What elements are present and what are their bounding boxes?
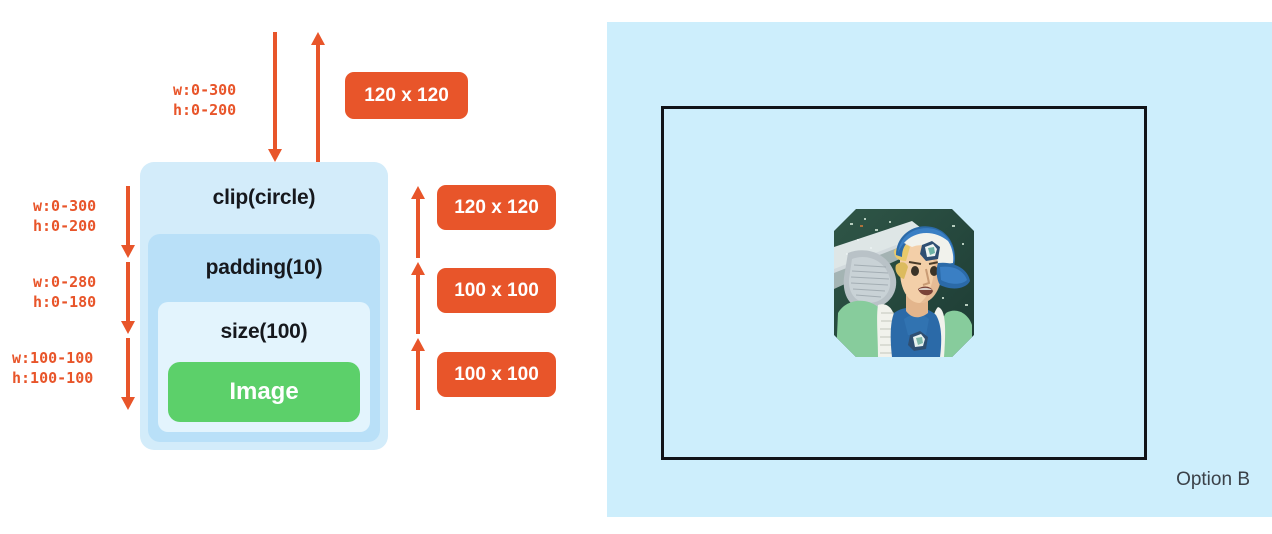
arrow-head bbox=[121, 245, 135, 258]
left-constraint-1-width: w:0-300 bbox=[33, 197, 96, 215]
arrow-head bbox=[311, 32, 325, 45]
option-caption: Option B bbox=[1176, 469, 1250, 491]
clipped-avatar-image bbox=[834, 209, 974, 357]
arrow-shaft bbox=[416, 197, 420, 258]
arrow-head bbox=[121, 397, 135, 410]
left-constraint-3-height: h:100-100 bbox=[12, 369, 93, 387]
arrow-shaft bbox=[273, 32, 277, 151]
right-size-arrow-3 bbox=[411, 338, 425, 410]
option-b-panel: Option B bbox=[607, 22, 1272, 517]
avatar-artwork-icon bbox=[834, 209, 974, 357]
left-constraint-arrow-1 bbox=[121, 186, 135, 258]
arrow-shaft bbox=[416, 349, 420, 410]
image-frame bbox=[661, 106, 1147, 460]
top-constraint-height: h:0-200 bbox=[173, 101, 236, 119]
top-constraint-annotation: w:0-300 h:0-200 bbox=[173, 80, 236, 120]
right-size-badge-2: 100 x 100 bbox=[437, 268, 556, 313]
top-constraint-width: w:0-300 bbox=[173, 81, 236, 99]
arrow-shaft bbox=[316, 43, 320, 162]
arrow-shaft bbox=[126, 338, 130, 399]
image-layer-box: Image bbox=[168, 362, 360, 422]
size-layer-label: size(100) bbox=[158, 320, 370, 344]
arrow-head bbox=[411, 338, 425, 351]
right-size-badge-1-label: 120 x 120 bbox=[454, 197, 539, 219]
left-constraint-annotation-1: w:0-300 h:0-200 bbox=[33, 196, 96, 236]
left-constraint-annotation-3: w:100-100 h:100-100 bbox=[12, 348, 93, 388]
right-size-badge-2-label: 100 x 100 bbox=[454, 280, 539, 302]
right-size-badge-3-label: 100 x 100 bbox=[454, 364, 539, 386]
right-size-badge-1: 120 x 120 bbox=[437, 185, 556, 230]
top-size-badge-label: 120 x 120 bbox=[364, 85, 449, 107]
left-constraint-2-height: h:0-180 bbox=[33, 293, 96, 311]
right-size-badge-3: 100 x 100 bbox=[437, 352, 556, 397]
arrow-head bbox=[268, 149, 282, 162]
arrow-shaft bbox=[126, 262, 130, 323]
right-size-arrow-1 bbox=[411, 186, 425, 258]
padding-layer-label: padding(10) bbox=[148, 256, 380, 280]
left-constraint-annotation-2: w:0-280 h:0-180 bbox=[33, 272, 96, 312]
left-constraint-arrow-2 bbox=[121, 262, 135, 334]
left-constraint-1-height: h:0-200 bbox=[33, 217, 96, 235]
arrow-head bbox=[411, 186, 425, 199]
constraints-diagram: w:0-300 h:0-200 120 x 120 w:0-300 h:0-20… bbox=[0, 0, 600, 534]
clip-layer-label: clip(circle) bbox=[140, 186, 388, 210]
top-size-badge: 120 x 120 bbox=[345, 72, 468, 119]
top-reported-size-arrow bbox=[311, 32, 325, 162]
arrow-shaft bbox=[416, 273, 420, 334]
right-size-arrow-2 bbox=[411, 262, 425, 334]
clip-layer-box: clip(circle) padding(10) size(100) Image bbox=[140, 162, 388, 450]
top-incoming-constraint-arrow bbox=[268, 32, 282, 162]
arrow-head bbox=[121, 321, 135, 334]
image-layer-label: Image bbox=[229, 378, 298, 406]
padding-layer-box: padding(10) size(100) Image bbox=[148, 234, 380, 442]
size-layer-box: size(100) Image bbox=[158, 302, 370, 432]
arrow-head bbox=[411, 262, 425, 275]
left-constraint-3-width: w:100-100 bbox=[12, 349, 93, 367]
left-constraint-arrow-3 bbox=[121, 338, 135, 410]
left-constraint-2-width: w:0-280 bbox=[33, 273, 96, 291]
arrow-shaft bbox=[126, 186, 130, 247]
